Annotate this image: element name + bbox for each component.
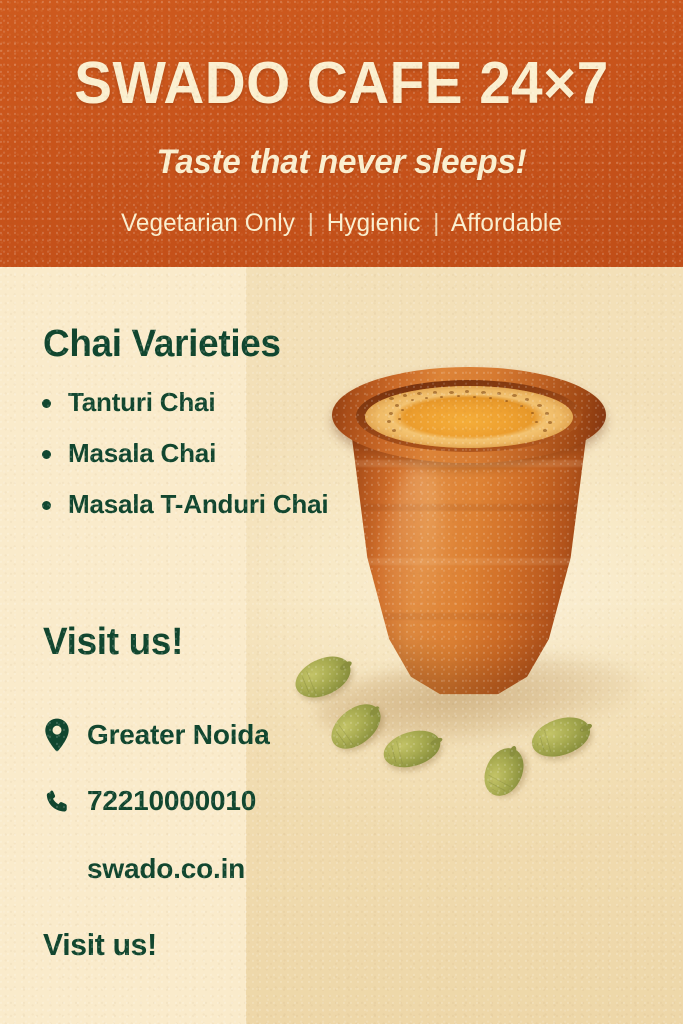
feature-separator: | xyxy=(302,209,320,237)
chai-varieties-heading: Chai Varieties xyxy=(43,321,281,367)
contact-phone[interactable]: 72210000010 xyxy=(43,783,256,819)
chai-varieties-list: Tanturi Chai Masala Chai Masala T-Anduri… xyxy=(36,386,336,539)
variety-label: Masala T-Anduri Chai xyxy=(68,489,328,519)
chai-photograph xyxy=(246,267,683,1024)
variety-label: Masala Chai xyxy=(68,438,216,468)
kulhad-cup xyxy=(332,367,606,697)
location-pin-icon xyxy=(43,717,71,753)
phone-icon xyxy=(43,783,71,819)
brand-title: SWADO CAFE 24×7 xyxy=(14,50,670,116)
feature-separator: | xyxy=(427,209,445,237)
bullet-icon xyxy=(42,501,51,510)
list-item: Tanturi Chai xyxy=(36,386,336,419)
contact-location[interactable]: Greater Noida xyxy=(43,717,270,753)
list-item: Masala Chai xyxy=(36,437,336,470)
website-value: swado.co.in xyxy=(87,851,245,887)
feature-vegetarian: Vegetarian Only xyxy=(121,209,295,237)
phone-value: 72210000010 xyxy=(87,783,256,819)
list-item: Masala T-Anduri Chai xyxy=(36,488,336,521)
contact-website[interactable]: swado.co.in xyxy=(43,851,245,887)
feature-affordable: Affordable xyxy=(451,209,562,237)
bullet-icon xyxy=(42,450,51,459)
feature-hygienic: Hygienic xyxy=(327,209,421,237)
brand-tagline: Taste that never sleeps! xyxy=(10,140,673,184)
brand-features: Vegetarian Only | Hygienic | Affordable xyxy=(10,207,673,239)
visit-us-heading: Visit us! xyxy=(43,619,183,665)
chai-bubbles xyxy=(365,386,573,448)
poster-canvas: SWADO CAFE 24×7 Taste that never sleeps!… xyxy=(0,0,683,1024)
poster-header: SWADO CAFE 24×7 Taste that never sleeps!… xyxy=(0,0,683,267)
footer-visit-cta: Visit us! xyxy=(43,925,157,965)
bullet-icon xyxy=(42,399,51,408)
variety-label: Tanturi Chai xyxy=(68,387,215,417)
location-value: Greater Noida xyxy=(87,717,270,753)
